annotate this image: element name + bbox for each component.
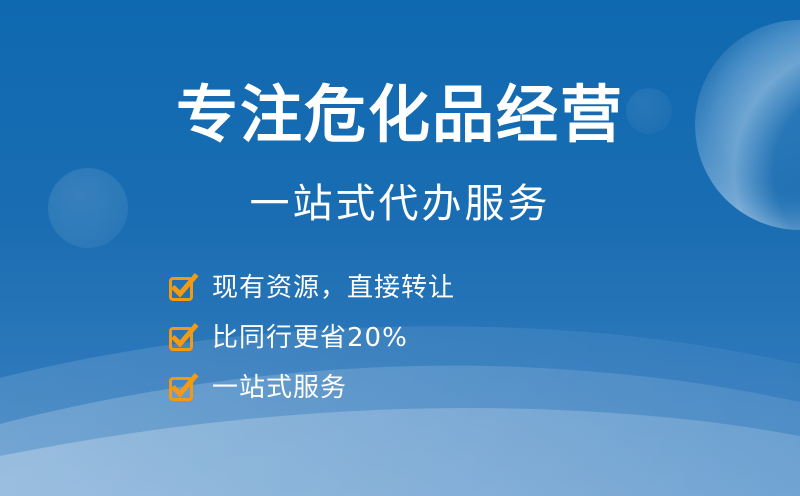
feature-label: 现有资源，直接转让 [212,275,455,301]
check-square-icon [168,273,198,303]
banner-title: 专注危化品经营 [0,84,800,146]
feature-item: 一站式服务 [168,372,455,404]
feature-item: 比同行更省20% [168,322,455,354]
check-square-icon [168,373,198,403]
feature-list: 现有资源，直接转让 比同行更省20% 一站式服务 [168,272,455,404]
feature-item: 现有资源，直接转让 [168,272,455,304]
feature-label: 一站式服务 [212,375,347,401]
check-square-icon [168,323,198,353]
feature-label: 比同行更省20% [212,325,408,351]
banner-content: 专注危化品经营 一站式代办服务 现有资源，直接转让 [0,0,800,496]
promo-banner: 专注危化品经营 一站式代办服务 现有资源，直接转让 [0,0,800,496]
banner-subtitle: 一站式代办服务 [0,184,800,224]
